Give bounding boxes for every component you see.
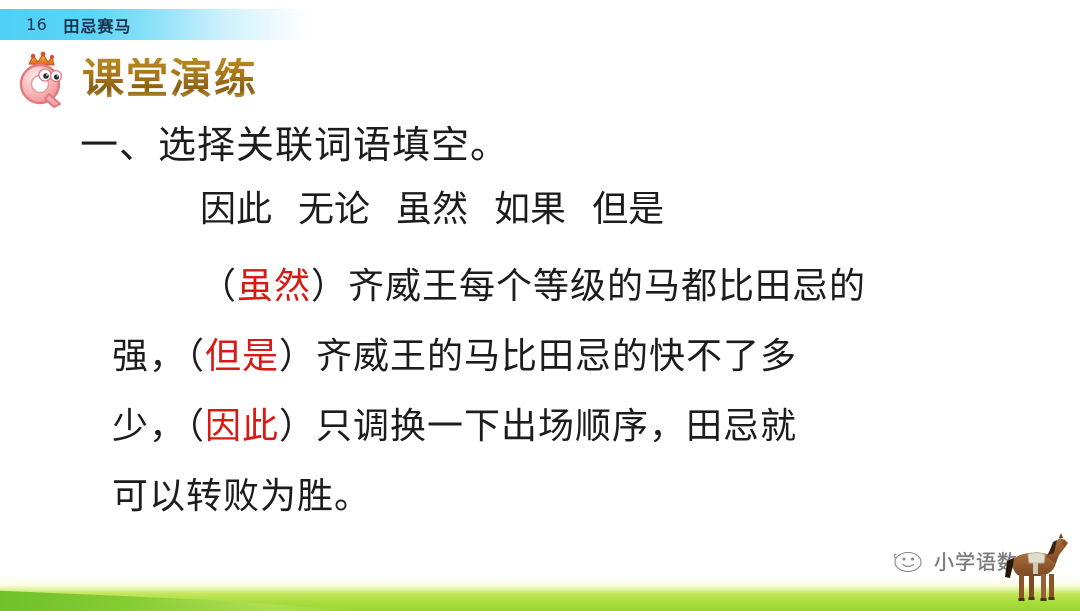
exercise-line: 可以转败为胜。 xyxy=(0,462,1080,532)
line-text: 强，（ xyxy=(112,336,205,377)
q-mascot-icon xyxy=(14,50,68,108)
exercise-line: 强，（但是）齐威王的马比田忌的快不了多 xyxy=(0,322,1080,392)
word-bank: 因此无论虽然如果但是 xyxy=(200,192,664,228)
exercise-line: （虽然）齐威王每个等级的马都比田忌的 xyxy=(0,252,1080,322)
lesson-title: 田忌赛马 xyxy=(63,13,131,37)
slide-canvas: 16 田忌赛马 xyxy=(0,0,1080,611)
line-text: ）齐威王每个等级的马都比田忌的 xyxy=(311,266,866,307)
answer-word: 虽然 xyxy=(237,266,311,307)
lesson-header-bar: 16 田忌赛马 xyxy=(0,9,310,40)
line-text: （ xyxy=(200,266,237,307)
word-bank-item: 但是 xyxy=(592,189,664,230)
word-bank-item: 无论 xyxy=(298,189,370,230)
horse-illustration xyxy=(996,533,1072,605)
exercise-line: 少，（因此）只调换一下出场顺序，田忌就 xyxy=(0,392,1080,462)
word-bank-item: 如果 xyxy=(494,189,566,230)
section-title: 课堂演练 xyxy=(82,58,258,100)
line-text: 可以转败为胜。 xyxy=(112,476,371,517)
word-bank-item: 虽然 xyxy=(396,189,468,230)
section-heading: 课堂演练 xyxy=(14,50,258,108)
smiley-face-icon xyxy=(893,549,927,573)
exercise-question: 一、选择关联词语填空。 xyxy=(80,126,509,164)
line-text: 少，（ xyxy=(112,406,205,447)
word-bank-item: 因此 xyxy=(200,189,272,230)
grass-strip xyxy=(0,581,1080,611)
exercise-answer-lines: （虽然）齐威王每个等级的马都比田忌的强，（但是）齐威王的马比田忌的快不了多少，（… xyxy=(0,252,1080,532)
lesson-header-content: 16 田忌赛马 xyxy=(26,9,131,40)
answer-word: 因此 xyxy=(205,406,279,447)
answer-word: 但是 xyxy=(205,336,279,377)
line-text: ）只调换一下出场顺序，田忌就 xyxy=(279,406,797,447)
lesson-number: 16 xyxy=(26,15,47,34)
line-text: ）齐威王的马比田忌的快不了多 xyxy=(279,336,797,377)
